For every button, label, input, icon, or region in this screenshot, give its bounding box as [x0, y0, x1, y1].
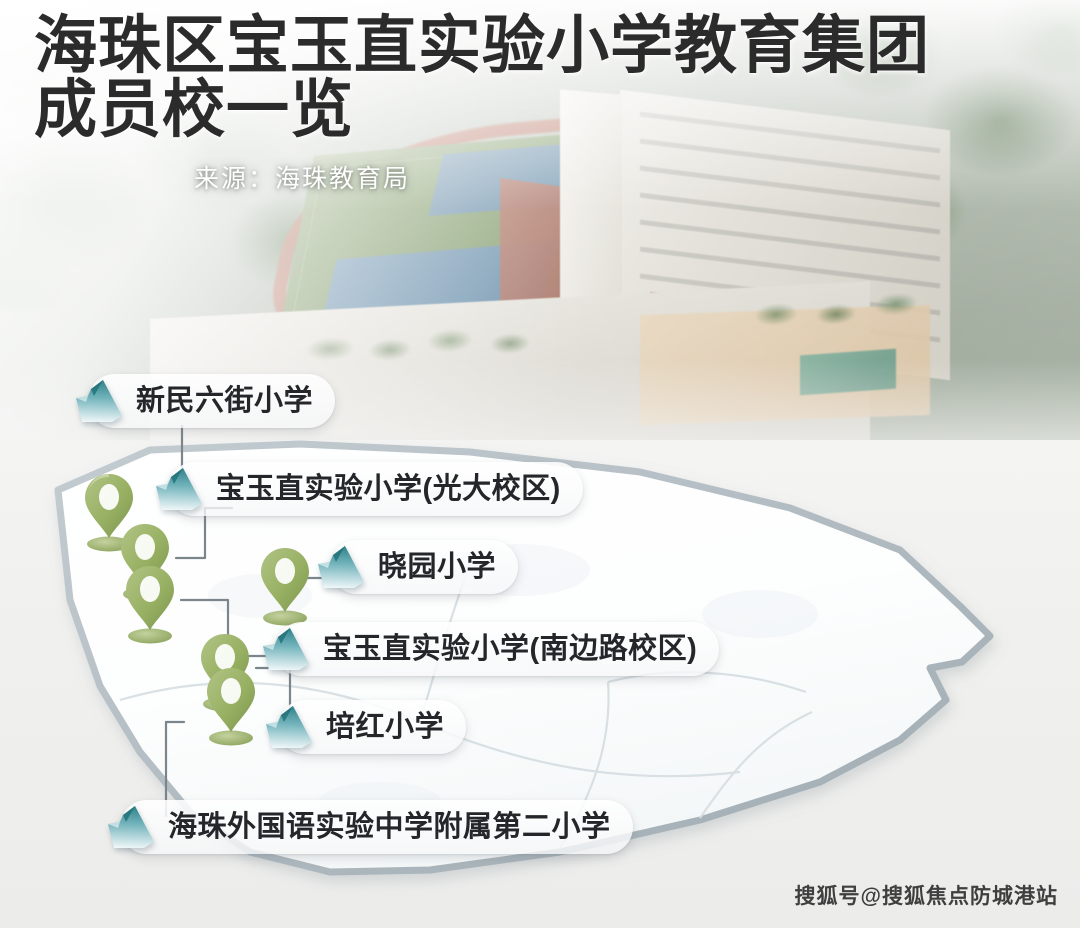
school-label-text: 培红小学 — [326, 713, 444, 742]
school-label-xinmin-liujie[interactable]: 新民六街小学 — [88, 374, 335, 428]
school-label-xiaoyuan[interactable]: 晓园小学 — [330, 540, 518, 594]
teal-flag-marker-icon — [152, 464, 210, 514]
school-label-text: 宝玉直实验小学(光大校区) — [216, 475, 561, 504]
school-label-text: 海珠外国语实验中学附属第二小学 — [168, 813, 611, 842]
infographic-poster: 海珠区宝玉直实验小学教育集团 成员校一览 来源：海珠教育局 — [0, 0, 1080, 928]
pin-base — [128, 629, 172, 644]
teal-flag-marker-icon — [259, 624, 317, 674]
pin-hole — [221, 678, 241, 704]
page-title-line-2: 成员校一览 — [34, 78, 1054, 142]
teal-flag-marker-icon — [262, 702, 320, 752]
school-label-baoyuzhi-nanbianlu[interactable]: 宝玉直实验小学(南边路校区) — [275, 622, 719, 676]
source-subtitle: 来源：海珠教育局 — [194, 159, 1054, 195]
pin-hole — [140, 576, 160, 602]
pin-hole — [275, 558, 295, 584]
school-label-text: 宝玉直实验小学(南边路校区) — [323, 635, 697, 664]
teal-flag-marker-icon — [314, 542, 372, 592]
school-label-text: 晓园小学 — [378, 553, 496, 582]
map-pin-haizhu-waiguoyu-2[interactable] — [200, 662, 262, 748]
teal-flag-marker-icon — [104, 802, 162, 852]
pin-hole — [135, 534, 155, 560]
school-label-baoyuzhi-guangda[interactable]: 宝玉直实验小学(光大校区) — [168, 462, 583, 516]
school-label-haizhu-waiguoyu-2[interactable]: 海珠外国语实验中学附属第二小学 — [120, 800, 633, 854]
map-pin-xiaoyuan[interactable] — [254, 542, 316, 628]
school-label-peihong[interactable]: 培红小学 — [278, 700, 466, 754]
page-title-line-1: 海珠区宝玉直实验小学教育集团 — [34, 14, 1054, 78]
teal-flag-marker-icon — [72, 376, 130, 426]
source-watermark: 搜狐号@搜狐焦点防城港站 — [795, 880, 1058, 910]
pin-base — [209, 731, 253, 746]
map-pin-baoyuzhi-nanbianlu[interactable] — [119, 560, 181, 646]
title-block: 海珠区宝玉直实验小学教育集团 成员校一览 来源：海珠教育局 — [34, 14, 1054, 195]
school-label-text: 新民六街小学 — [136, 387, 313, 416]
pin-hole — [99, 484, 119, 510]
